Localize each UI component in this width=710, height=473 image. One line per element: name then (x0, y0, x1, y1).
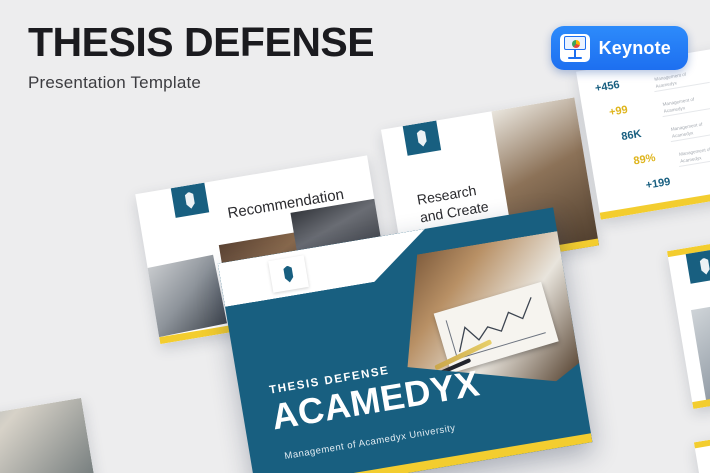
slide-progress-left[interactable]: ne ment 56% Progress 01 80% Progress 02 (0, 398, 107, 473)
slide-literary-review[interactable]: Literary Review ✓ Literary Review 01 ✓ L… (667, 207, 710, 409)
university-logo-tab (171, 183, 209, 218)
kpi-value: 86K (621, 128, 643, 143)
university-logo-badge (268, 255, 309, 293)
university-logo-tab (686, 249, 710, 284)
keynote-presentation-icon (560, 34, 590, 62)
header: THESIS DEFENSE Presentation Template (28, 22, 374, 93)
yellow-accent-bar-top (667, 207, 710, 257)
keynote-screen-icon (564, 36, 586, 50)
slide-statistics[interactable]: +456 Management of Acamedyx +99 Manageme… (576, 47, 710, 220)
photo-two-students (0, 398, 103, 473)
keynote-base-icon (568, 57, 582, 59)
emblem-icon (182, 191, 198, 210)
university-logo-tab (403, 121, 441, 156)
emblem-icon (697, 257, 710, 276)
emblem-icon (414, 129, 430, 148)
keynote-stand-icon (574, 50, 576, 57)
yellow-accent-bar (600, 188, 710, 220)
template-preview-canvas: Recommendation Research and Create Ideas… (0, 0, 710, 473)
photo-two-women-talking (691, 295, 710, 407)
emblem-icon (281, 265, 297, 284)
kpi-value: +456 (594, 79, 620, 95)
keynote-label: Keynote (599, 38, 671, 59)
kpi-value: 89% (633, 152, 657, 167)
kpi-value: +99 (608, 104, 628, 119)
page-title: THESIS DEFENSE (28, 22, 374, 63)
page-subtitle: Presentation Template (28, 73, 374, 93)
keynote-format-badge[interactable]: Keynote (551, 26, 688, 70)
kpi-value: +199 (645, 176, 671, 192)
pie-chart-icon (572, 40, 580, 48)
